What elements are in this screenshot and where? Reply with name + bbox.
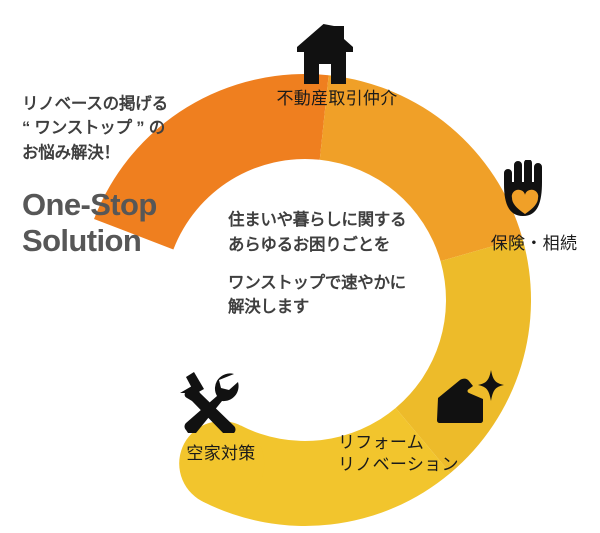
slice-label-reform: リフォーム リノベーション	[338, 432, 508, 477]
page-title: One-Stop Solution	[22, 187, 237, 259]
hammer-wrench-icon	[176, 371, 246, 433]
center-copy-block: 住まいや暮らしに関する あらゆるお困りごとを ワンストップで速やかに 解決します	[228, 208, 458, 320]
hand-heart-icon	[496, 160, 554, 226]
slice-label-vacant: 空家対策	[166, 443, 276, 465]
center-paragraph-1: 住まいや暮らしに関する あらゆるお困りごとを	[228, 208, 458, 258]
center-paragraph-2: ワンストップで速やかに 解決します	[228, 271, 458, 321]
left-copy-block: リノベースの掲げる “ ワンストップ ” の お悩み解決！ One-Stop S…	[22, 92, 237, 259]
house-sparkle-icon	[436, 368, 504, 426]
house-icon	[290, 24, 356, 84]
infographic-canvas: リノベースの掲げる “ ワンストップ ” の お悩み解決！ One-Stop S…	[0, 0, 600, 533]
slice-label-realestate: 不動産取引仲介	[252, 88, 422, 110]
slice-label-insurance: 保険・相続	[478, 233, 590, 255]
lead-text: リノベースの掲げる “ ワンストップ ” の お悩み解決！	[22, 92, 237, 165]
